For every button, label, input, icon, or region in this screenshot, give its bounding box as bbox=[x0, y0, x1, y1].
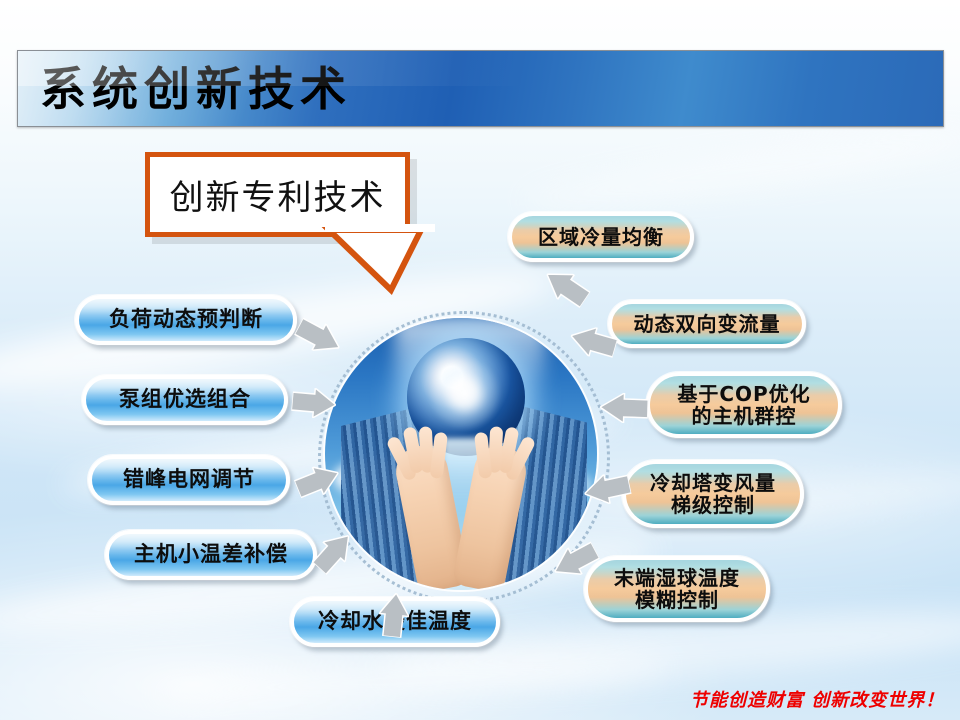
tech-node-label: 末端湿球温度 模糊控制 bbox=[614, 567, 740, 612]
tech-node-label: 主机小温差补偿 bbox=[134, 543, 288, 567]
tech-node-label: 动态双向变流量 bbox=[634, 313, 781, 335]
arrow-right-1-icon bbox=[539, 262, 594, 313]
tech-node-right-4[interactable]: 冷却塔变风量 梯级控制 bbox=[622, 460, 804, 528]
tech-node-left-5[interactable]: 冷却水最佳温度 bbox=[290, 597, 500, 647]
tech-node-right-5[interactable]: 末端湿球温度 模糊控制 bbox=[584, 556, 770, 622]
callout-bubble: 创新专利技术 bbox=[145, 152, 410, 237]
title-banner: 系统创新技术 bbox=[17, 50, 944, 127]
tech-node-right-1[interactable]: 区域冷量均衡 bbox=[508, 212, 694, 262]
tech-node-label: 冷却塔变风量 梯级控制 bbox=[650, 472, 776, 517]
sun-glow bbox=[429, 358, 501, 430]
footer-slogan: 节能创造财富 创新改变世界！ bbox=[690, 686, 940, 712]
page-title: 系统创新技术 bbox=[40, 53, 352, 125]
callout-tail-icon bbox=[325, 224, 435, 294]
tech-node-left-4[interactable]: 主机小温差补偿 bbox=[105, 530, 317, 580]
tech-node-left-3[interactable]: 错峰电网调节 bbox=[88, 455, 290, 505]
cloud-streak bbox=[149, 646, 670, 713]
tech-node-label: 负荷动态预判断 bbox=[109, 308, 263, 332]
tech-node-label: 泵组优选组合 bbox=[119, 388, 251, 412]
tech-node-right-2[interactable]: 动态双向变流量 bbox=[608, 300, 806, 348]
center-globe-image bbox=[325, 318, 597, 590]
tech-node-left-1[interactable]: 负荷动态预判断 bbox=[75, 295, 297, 345]
tech-node-label: 基于COP优化 的主机群控 bbox=[677, 383, 810, 428]
arrow-right-3-icon bbox=[599, 392, 648, 424]
tech-node-label: 冷却水最佳温度 bbox=[318, 610, 472, 634]
tech-node-label: 错峰电网调节 bbox=[123, 468, 255, 492]
tech-node-right-3[interactable]: 基于COP优化 的主机群控 bbox=[646, 372, 842, 438]
tech-node-left-2[interactable]: 泵组优选组合 bbox=[82, 375, 288, 425]
cloud-streak bbox=[519, 118, 960, 222]
tech-node-label: 区域冷量均衡 bbox=[538, 226, 664, 248]
slide-canvas: 系统创新技术 创新专利技术 bbox=[0, 0, 960, 720]
